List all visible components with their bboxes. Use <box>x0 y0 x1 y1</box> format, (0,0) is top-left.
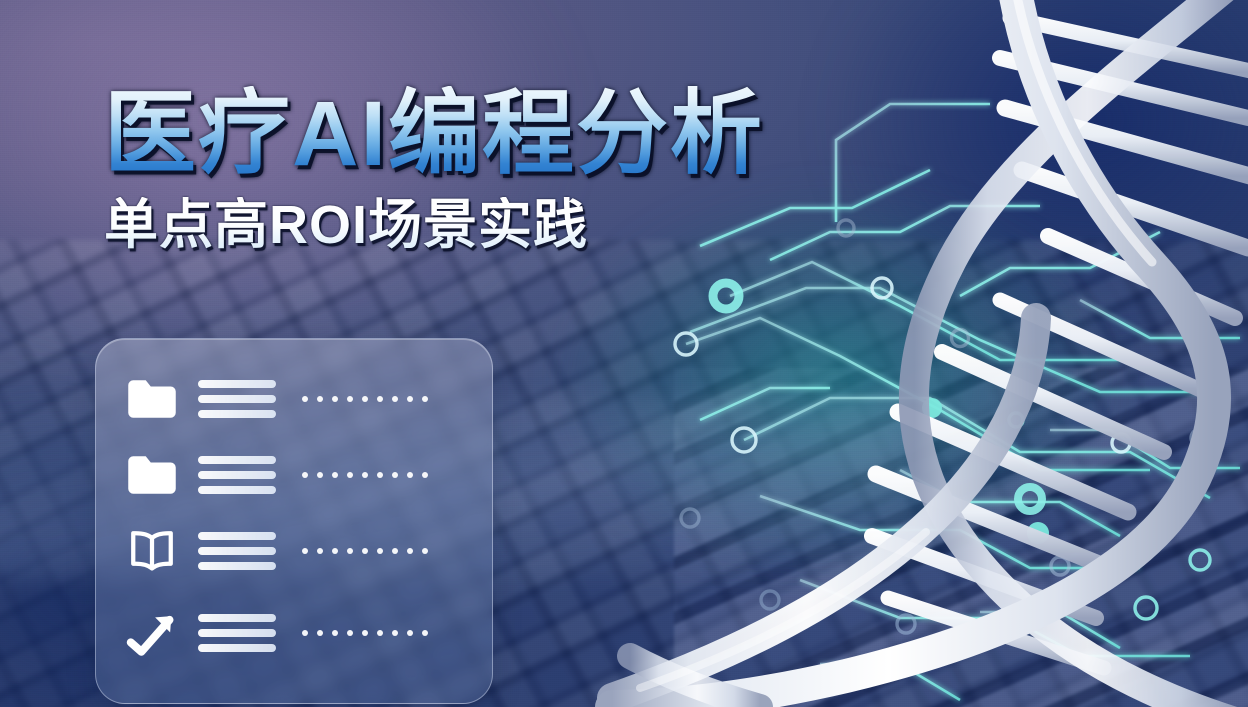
page-title: 医疗AI编程分析 <box>104 86 924 183</box>
text-placeholder-bars <box>198 532 276 570</box>
dotted-leader <box>302 472 428 478</box>
text-placeholder-bars <box>198 380 276 418</box>
text-placeholder-bars <box>198 456 276 494</box>
folder-icon <box>122 369 182 429</box>
list-item[interactable] <box>122 361 474 437</box>
dotted-leader <box>302 548 428 554</box>
folder-icon <box>122 445 182 505</box>
page-subtitle: 单点高ROI场景实践 <box>104 197 924 254</box>
list-item[interactable] <box>122 437 474 513</box>
text-placeholder-bars <box>198 614 276 652</box>
feature-list-card <box>95 338 493 704</box>
open-book-icon <box>122 521 182 581</box>
list-item[interactable] <box>122 595 474 671</box>
dotted-leader <box>302 396 428 402</box>
poster-canvas: 医疗AI编程分析 单点高ROI场景实践 <box>0 0 1248 707</box>
dotted-leader <box>302 630 428 636</box>
trending-up-arrow-icon <box>122 603 182 663</box>
list-item[interactable] <box>122 513 474 589</box>
feature-list-rows <box>96 339 492 703</box>
title-block: 医疗AI编程分析 单点高ROI场景实践 <box>104 86 924 253</box>
